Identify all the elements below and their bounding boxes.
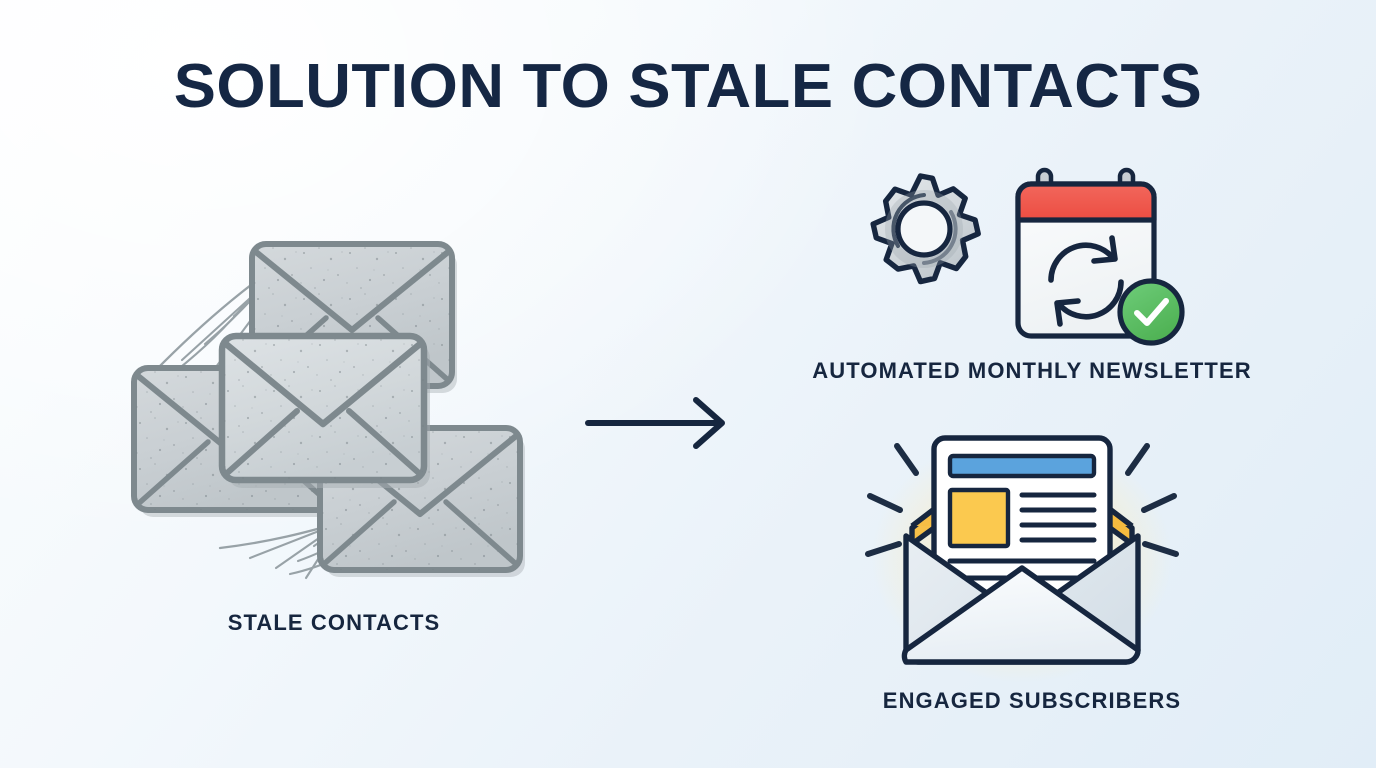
engaged-subscribers-illustration: [852, 418, 1192, 686]
page-title: SOLUTION TO STALE CONTACTS: [0, 56, 1376, 118]
gear-icon: [873, 176, 978, 282]
calendar-sync-icon: [1018, 170, 1182, 343]
arrow-right-icon: [570, 392, 750, 454]
engaged-subscribers-caption: ENGAGED SUBSCRIBERS: [688, 690, 1376, 712]
stale-envelope-front: [222, 336, 430, 488]
slide-canvas: SOLUTION TO STALE CONTACTS: [0, 0, 1376, 768]
stale-contacts-caption: STALE CONTACTS: [0, 612, 668, 634]
doc-header-bar: [950, 456, 1094, 476]
check-badge-icon: [1120, 281, 1182, 343]
automated-newsletter-illustration: [840, 160, 1202, 350]
stale-contacts-illustration: [110, 232, 570, 600]
doc-image-block: [950, 490, 1008, 546]
automated-newsletter-caption: AUTOMATED MONTHLY NEWSLETTER: [688, 360, 1376, 382]
